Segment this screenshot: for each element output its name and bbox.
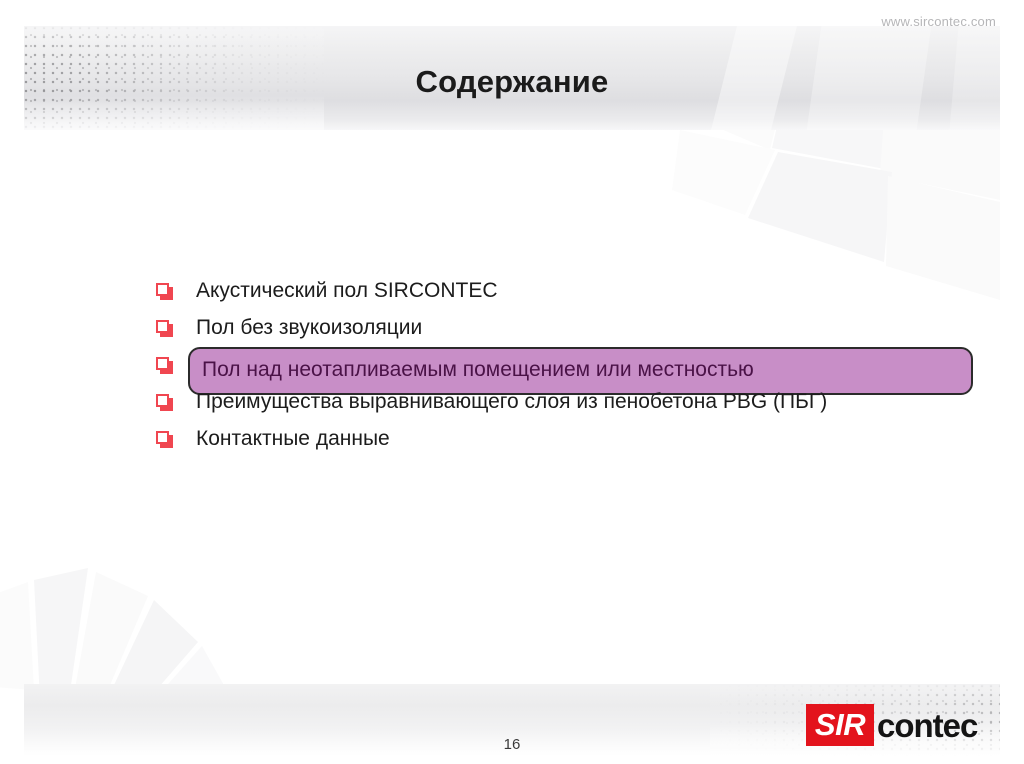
square-bullet-icon [156, 283, 176, 303]
square-bullet-icon [156, 394, 176, 414]
square-bullet-icon [156, 357, 176, 377]
logo-red-badge: SIR [806, 704, 874, 746]
logo-mark-text: SIR [815, 709, 865, 740]
list-item-text-wrap: Контактные данные [196, 424, 390, 454]
list-item-highlighted[interactable]: Пол над неотапливаемым помещением или ме… [156, 350, 986, 387]
list-item-label: Пол над неотапливаемым помещением или ме… [202, 358, 754, 381]
list-item-label: Пол без звукоизоляции [196, 316, 422, 339]
list-item-label: Контактные данные [196, 427, 390, 450]
list-item[interactable]: Преимущества выравнивающего слоя из пено… [156, 387, 986, 424]
logo-word-text: contec [877, 709, 977, 742]
list-item-text-wrap: Акустический пол SIRCONTEC [196, 276, 498, 306]
sircontec-logo: SIR contec [806, 702, 977, 748]
list-item-label: Акустический пол SIRCONTEC [196, 279, 498, 302]
list-item-text-wrap: Преимущества выравнивающего слоя из пено… [196, 387, 827, 417]
page-title: Содержание [0, 64, 1024, 100]
list-item[interactable]: Акустический пол SIRCONTEC [156, 276, 986, 313]
list-item-text-wrap: Пол без звукоизоляции [196, 313, 422, 343]
square-bullet-icon [156, 320, 176, 340]
site-url-label: www.sircontec.com [881, 14, 996, 29]
square-bullet-icon [156, 431, 176, 451]
list-item-label: Преимущества выравнивающего слоя из пено… [196, 390, 827, 413]
contents-list: Акустический пол SIRCONTEC Пол без звуко… [156, 276, 986, 461]
list-item[interactable]: Пол без звукоизоляции [156, 313, 986, 350]
list-item[interactable]: Контактные данные [156, 424, 986, 461]
slide-canvas: www.sircontec.com Содержание Акустически… [0, 0, 1024, 764]
